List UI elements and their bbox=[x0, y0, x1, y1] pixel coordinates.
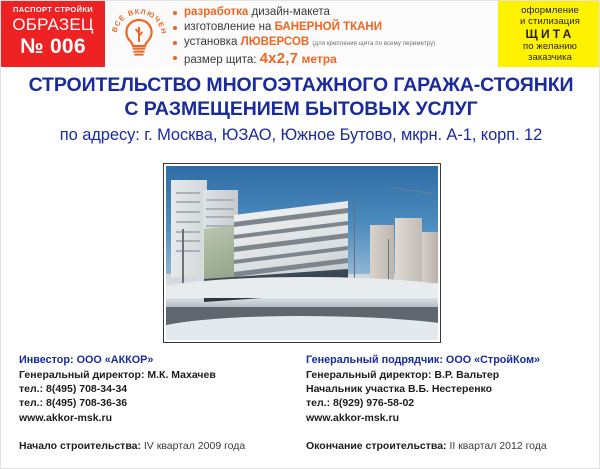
panel-line-3: по желанию bbox=[503, 41, 597, 52]
page-title-line-2: С РАЗМЕЩЕНИЕМ БЫТОВЫХ УСЛУГ bbox=[1, 97, 600, 121]
badge-number: № 006 bbox=[1, 35, 105, 58]
investor-phone-2: тел.: 8(495) 708-36-36 bbox=[19, 396, 299, 410]
contractor-title: Генеральный подрядчик: ООО «СтройКом» bbox=[306, 353, 596, 368]
investor-website[interactable]: www.akkor-msk.ru bbox=[19, 411, 299, 425]
contractor-block: Генеральный подрядчик: ООО «СтройКом» Ге… bbox=[306, 353, 596, 425]
photo-tower-left-1 bbox=[171, 180, 206, 277]
photo-snowbank bbox=[166, 277, 438, 298]
end-date-value: II квартал 2012 года bbox=[447, 440, 547, 452]
site-address: по адресу: г. Москва, ЮЗАО, Южное Бутово… bbox=[1, 124, 600, 147]
panel-line-1: оформление bbox=[503, 5, 597, 16]
feature-note: (для крепления щита по всему периметру) bbox=[312, 41, 435, 47]
photo-tower-right-3 bbox=[422, 232, 438, 282]
project-photo bbox=[166, 166, 438, 340]
photo-tower-right-2 bbox=[395, 218, 422, 282]
investor-phone-1: тел.: 8(495) 708-34-34 bbox=[19, 382, 299, 396]
feature-strong: ЛЮВЕРСОВ bbox=[241, 36, 310, 48]
photo-tower-right-1 bbox=[370, 225, 394, 282]
contacts-section: Инвестор: ООО «АККОР» Генеральный директ… bbox=[1, 353, 600, 425]
board-size-value: 4х2,7 bbox=[260, 50, 299, 67]
all-inclusive-logo: ВСЁ ВКЛЮЧЕНО bbox=[107, 3, 171, 65]
features-list: разработка дизайн-макета изготовление на… bbox=[173, 5, 493, 65]
header-strip: ПАСПОРТ СТРОЙКИ ОБРАЗЕЦ № 006 ВСЁ ВКЛЮЧЕ… bbox=[1, 1, 600, 67]
panel-shield-word: ЩИТА bbox=[503, 28, 597, 41]
start-date-label: Начало строительства: bbox=[19, 440, 141, 452]
panel-line-4: заказчика bbox=[503, 52, 597, 63]
contractor-phone-1: тел.: 8(929) 976-58-02 bbox=[306, 396, 596, 410]
feature-item: изготовление на БАНЕРНОЙ ТКАНИ bbox=[173, 20, 493, 35]
project-photo-frame bbox=[163, 163, 441, 343]
feature-lead: изготовление на bbox=[184, 21, 275, 33]
feature-lead: установка bbox=[184, 36, 241, 48]
photo-pole bbox=[182, 229, 184, 288]
photo-foreground-snow bbox=[166, 316, 438, 340]
construction-passport-board: ПАСПОРТ СТРОЙКИ ОБРАЗЕЦ № 006 ВСЁ ВКЛЮЧЕ… bbox=[0, 0, 600, 469]
badge-kicker: ПАСПОРТ СТРОЙКИ bbox=[1, 5, 105, 15]
contractor-website[interactable]: www.akkor-msk.ru bbox=[306, 411, 596, 425]
sample-badge: ПАСПОРТ СТРОЙКИ ОБРАЗЕЦ № 006 bbox=[1, 1, 105, 67]
feature-item: установка ЛЮВЕРСОВ (для крепления щита п… bbox=[173, 35, 493, 50]
feature-lead: размер щита: bbox=[184, 54, 260, 66]
feature-item: разработка дизайн-макета bbox=[173, 5, 493, 20]
badge-word: ОБРАЗЕЦ bbox=[1, 15, 105, 35]
end-date-label: Окончание строительства: bbox=[306, 440, 447, 452]
feature-rest: дизайн-макета bbox=[248, 6, 330, 18]
feature-strong: БАНЕРНОЙ ТКАНИ bbox=[275, 21, 382, 33]
start-date-item: Начало строительства: IV квартал 2009 го… bbox=[19, 439, 245, 453]
start-date-value: IV квартал 2009 года bbox=[141, 440, 245, 452]
dates-section: Начало строительства: IV квартал 2009 го… bbox=[1, 439, 600, 463]
lightbulb-icon: ВСЁ ВКЛЮЧЕНО bbox=[107, 3, 171, 65]
investor-title: Инвестор: ООО «АККОР» bbox=[19, 353, 299, 368]
page-title-line-1: СТРОИТЕЛЬСТВО МНОГОЭТАЖНОГО ГАРАЖА-СТОЯН… bbox=[1, 73, 600, 97]
investor-director: Генеральный директор: М.К. Махачев bbox=[19, 368, 299, 382]
customization-panel: оформление и стилизация ЩИТА по желанию … bbox=[498, 1, 600, 67]
contractor-director: Генеральный директор: В.Р. Вальтер bbox=[306, 368, 596, 382]
investor-block: Инвестор: ООО «АККОР» Генеральный директ… bbox=[19, 353, 299, 425]
feature-item-size: размер щита: 4х2,7 метра bbox=[173, 50, 493, 67]
feature-strong: разработка bbox=[184, 6, 248, 18]
board-size-unit: метра bbox=[298, 52, 337, 66]
contractor-foreman: Начальник участка В.Б. Нестеренко bbox=[306, 382, 596, 396]
end-date-item: Окончание строительства: II квартал 2012… bbox=[306, 439, 547, 453]
title-block: СТРОИТЕЛЬСТВО МНОГОЭТАЖНОГО ГАРАЖА-СТОЯН… bbox=[1, 73, 600, 147]
